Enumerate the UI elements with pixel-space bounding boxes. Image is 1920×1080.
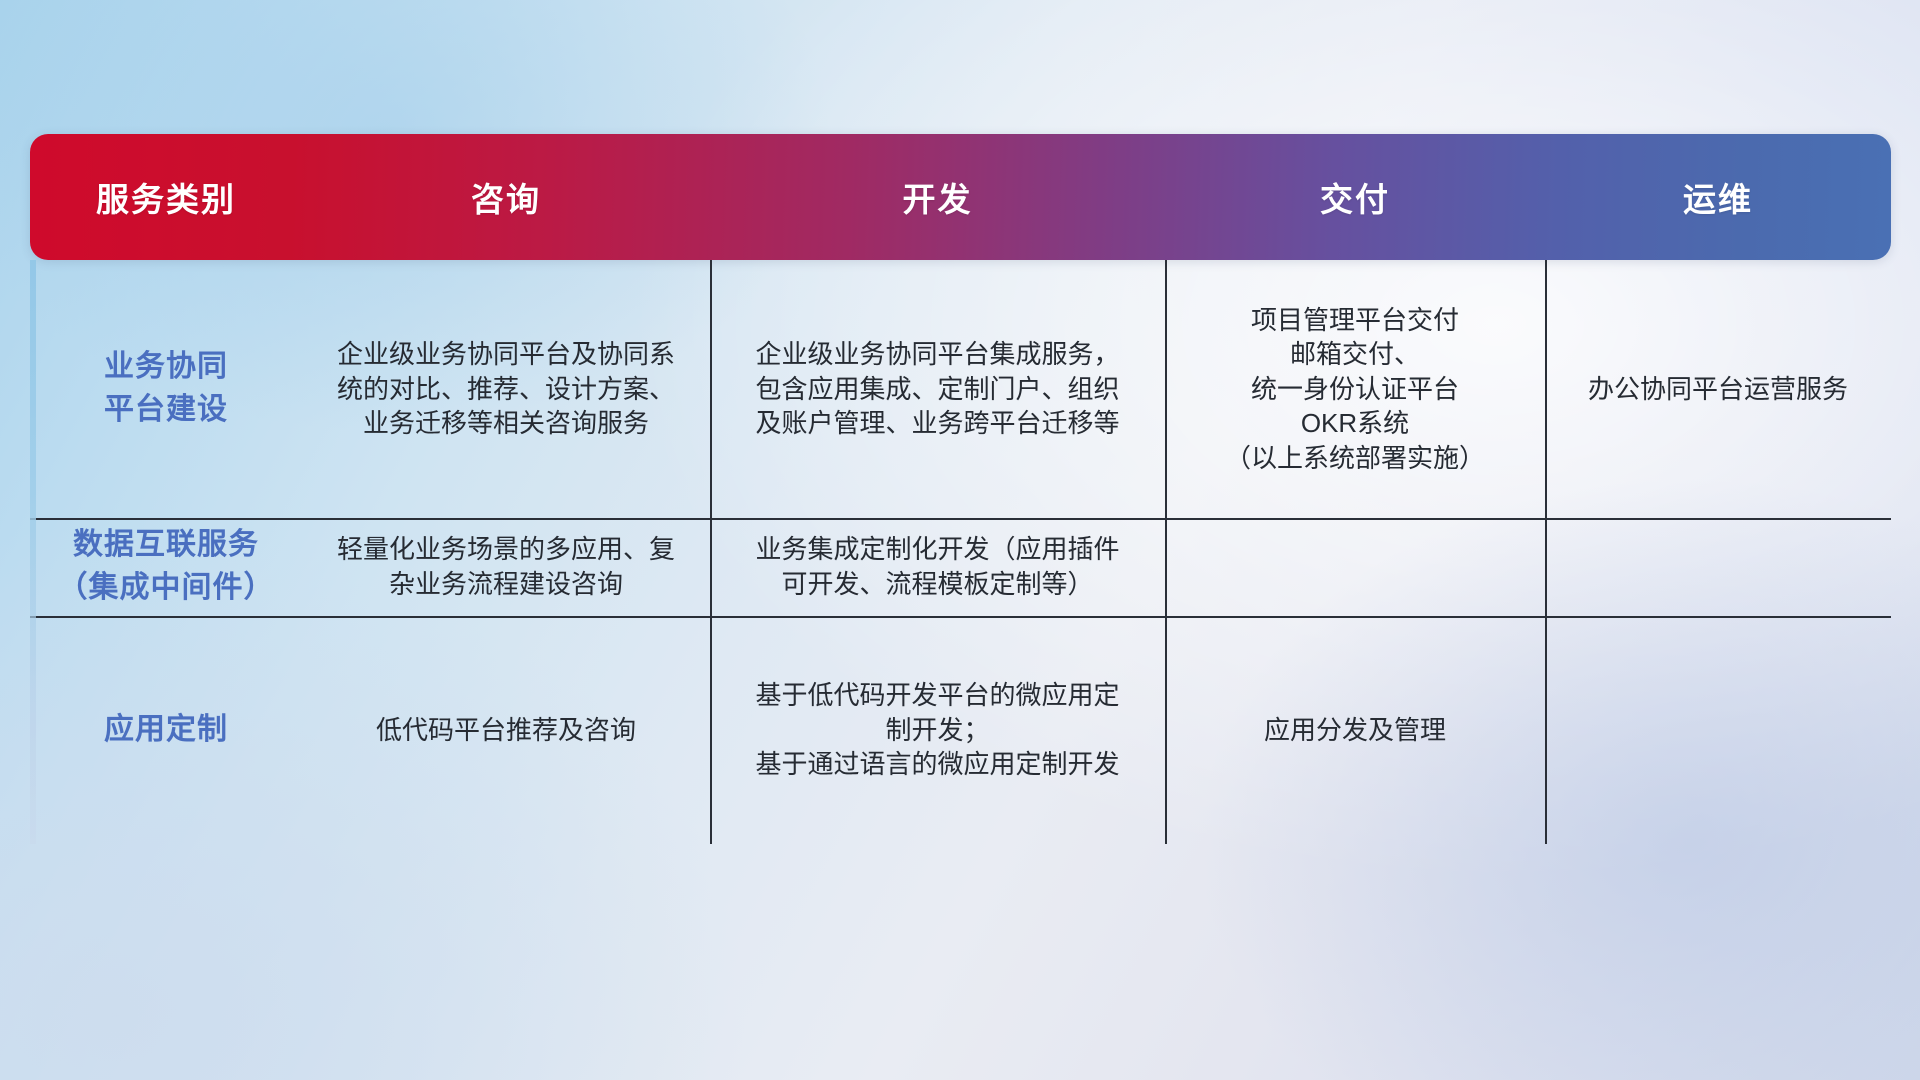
row-2-operations — [1545, 518, 1891, 616]
row-2-consulting: 轻量化业务场景的多应用、复 杂业务流程建设咨询 — [302, 518, 710, 616]
row-3-consulting: 低代码平台推荐及咨询 — [302, 616, 710, 844]
header-label-delivery: 交付 — [1320, 173, 1390, 221]
header-cell-delivery: 交付 — [1165, 134, 1545, 260]
row-divider-1 — [30, 518, 1891, 520]
header-cell-development: 开发 — [710, 134, 1165, 260]
row-3-development: 基于低代码开发平台的微应用定 制开发； 基于通过语言的微应用定制开发 — [710, 616, 1165, 844]
table-body: 业务协同 平台建设 企业级业务协同平台及协同系 统的对比、推荐、设计方案、 业务… — [30, 260, 1891, 844]
row-3-delivery: 应用分发及管理 — [1165, 616, 1545, 844]
table-header-row: 服务类别 咨询 开发 交付 运维 — [30, 134, 1891, 260]
table-row: 应用定制 低代码平台推荐及咨询 基于低代码开发平台的微应用定 制开发； 基于通过… — [30, 616, 1891, 844]
row-1-delivery: 项目管理平台交付 邮箱交付、 统一身份认证平台 OKR系统 （以上系统部署实施） — [1165, 260, 1545, 518]
header-cell-operations: 运维 — [1545, 134, 1891, 260]
row-2-delivery — [1165, 518, 1545, 616]
row-divider-2 — [30, 616, 1891, 618]
row-1-operations: 办公协同平台运营服务 — [1545, 260, 1891, 518]
row-1-consulting: 企业级业务协同平台及协同系 统的对比、推荐、设计方案、 业务迁移等相关咨询服务 — [302, 260, 710, 518]
row-1-development: 企业级业务协同平台集成服务， 包含应用集成、定制门户、组织 及账户管理、业务跨平… — [710, 260, 1165, 518]
header-cell-category: 服务类别 — [30, 134, 302, 260]
left-edge-accent — [30, 260, 36, 844]
row-2-category: 数据互联服务 （集成中间件） — [30, 518, 302, 616]
row-1-category: 业务协同 平台建设 — [30, 260, 302, 518]
row-3-operations — [1545, 616, 1891, 844]
header-label-consulting: 咨询 — [471, 173, 541, 221]
column-divider-2 — [1165, 260, 1167, 844]
header-label-development: 开发 — [903, 173, 973, 221]
column-divider-1 — [710, 260, 712, 844]
table-row: 业务协同 平台建设 企业级业务协同平台及协同系 统的对比、推荐、设计方案、 业务… — [30, 260, 1891, 518]
service-matrix-table: 服务类别 咨询 开发 交付 运维 — [30, 134, 1891, 844]
table-row: 数据互联服务 （集成中间件） 轻量化业务场景的多应用、复 杂业务流程建设咨询 业… — [30, 518, 1891, 616]
header-label-operations: 运维 — [1683, 173, 1753, 221]
column-divider-3 — [1545, 260, 1547, 844]
header-label-category: 服务类别 — [96, 173, 236, 221]
row-3-category: 应用定制 — [30, 616, 302, 844]
slide-canvas: 服务类别 咨询 开发 交付 运维 — [0, 0, 1920, 1080]
header-cell-consulting: 咨询 — [302, 134, 710, 260]
row-2-development: 业务集成定制化开发（应用插件 可开发、流程模板定制等） — [710, 518, 1165, 616]
